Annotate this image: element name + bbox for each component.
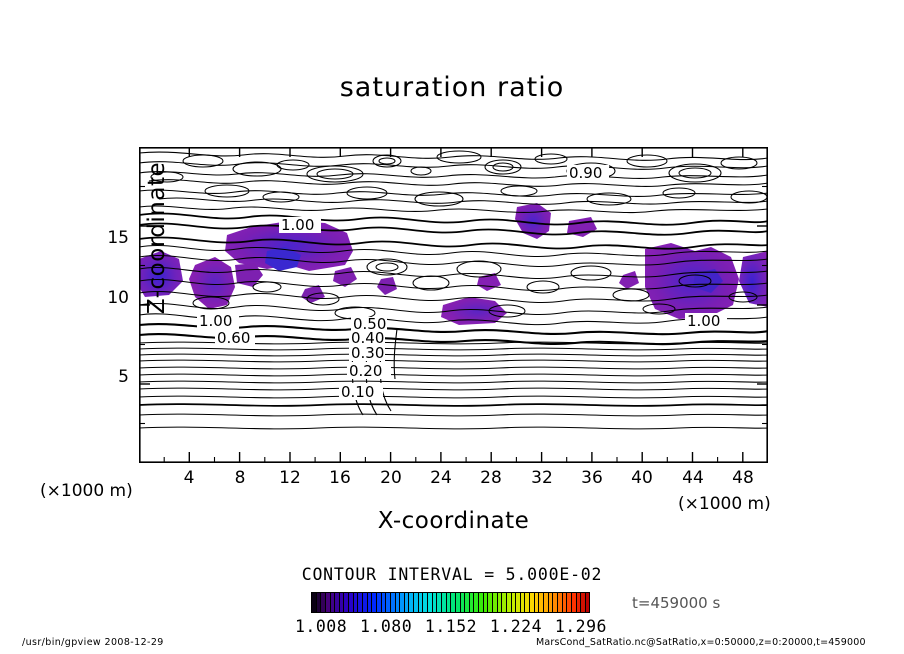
dataset-caption: MarsCond_SatRatio.nc@SatRatio,x=0:50000,… xyxy=(536,637,866,648)
svg-text:1.00: 1.00 xyxy=(687,312,720,330)
y-tick-label-10: 10 xyxy=(95,288,129,308)
contour-interval-label: CONTOUR INTERVAL = 5.000E-02 xyxy=(0,565,904,584)
colorbar-tick-3: 1.224 xyxy=(490,617,542,636)
x-axis-title: X-coordinate xyxy=(139,508,768,534)
x-tick-label-40: 40 xyxy=(622,468,662,488)
colorbar-tick-1: 1.080 xyxy=(360,617,412,636)
contour-canvas: 0.10 0.20 0.30 0.40 0.50 0.60 1.00 1.00 xyxy=(139,147,768,463)
x-tick-label-32: 32 xyxy=(522,468,562,488)
colorbar[interactable] xyxy=(311,592,590,613)
colorbar-tick-2: 1.152 xyxy=(425,617,477,636)
x-tick-label-16: 16 xyxy=(320,468,360,488)
colorbar-segment xyxy=(586,593,590,612)
svg-text:0.50: 0.50 xyxy=(353,315,386,333)
gpview-credit: /usr/bin/gpview 2008-12-29 xyxy=(22,637,164,648)
x-tick-label-20: 20 xyxy=(371,468,411,488)
x-tick-label-24: 24 xyxy=(421,468,461,488)
y-axis-title: Z-coordinate xyxy=(144,158,170,318)
svg-text:0.90: 0.90 xyxy=(569,164,602,182)
time-label: t=459000 s xyxy=(632,594,720,612)
x-tick-label-4: 4 xyxy=(169,468,209,488)
x-tick-label-28: 28 xyxy=(471,468,511,488)
x-tick-label-12: 12 xyxy=(270,468,310,488)
x-tick-label-36: 36 xyxy=(572,468,612,488)
y-tick-label-15: 15 xyxy=(95,228,129,248)
colorbar-tick-4: 1.296 xyxy=(555,617,607,636)
x-tick-label-44: 44 xyxy=(673,468,713,488)
x-tick-label-8: 8 xyxy=(220,468,260,488)
y-tick-label-5: 5 xyxy=(95,367,129,387)
svg-text:0.60: 0.60 xyxy=(217,329,250,347)
colorbar-tick-0: 1.008 xyxy=(295,617,347,636)
page-title: saturation ratio xyxy=(0,72,904,103)
contour-plot-area: 0.10 0.20 0.30 0.40 0.50 0.60 1.00 1.00 xyxy=(139,147,768,463)
svg-text:0.20: 0.20 xyxy=(349,362,382,380)
svg-text:1.00: 1.00 xyxy=(281,216,314,234)
svg-text:1.00: 1.00 xyxy=(199,312,232,330)
x-tick-label-48: 48 xyxy=(723,468,763,488)
gpview-figure: saturation ratio xyxy=(0,0,904,654)
colorbar-tick-labels: 1.008 1.080 1.152 1.224 1.296 xyxy=(295,617,607,636)
x-axis-unit-left: (×1000 m) xyxy=(40,481,133,501)
svg-text:0.10: 0.10 xyxy=(341,383,374,401)
